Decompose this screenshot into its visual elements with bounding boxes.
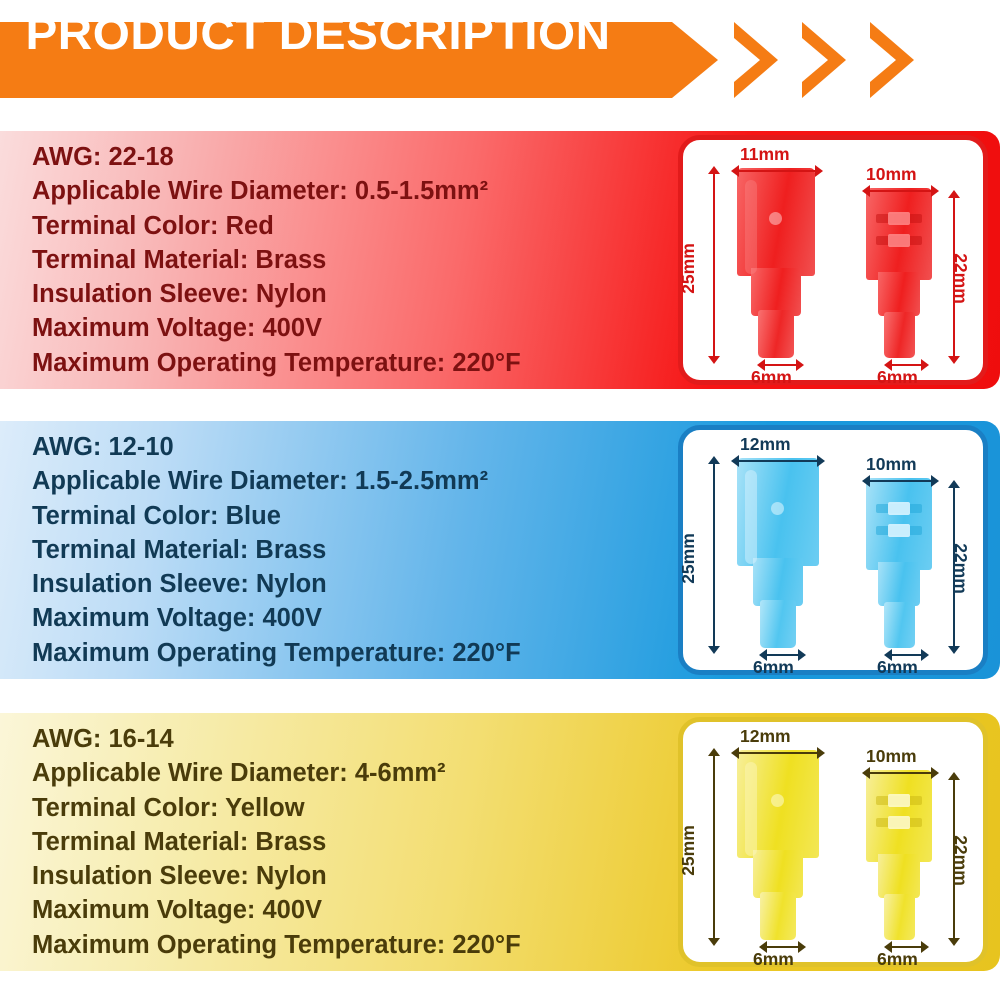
dimension-line [891, 946, 921, 948]
product-image-card-red: 11mm 25mm 6mm 10mm 2 [678, 135, 988, 385]
dimension-line [764, 364, 796, 366]
dimension-label-female-stem: 6mm [877, 949, 918, 970]
product-image-card-blue: 12mm 25mm 6mm 10mm 22mm [678, 425, 988, 675]
dimension-label-female-width: 10mm [866, 164, 917, 185]
dimension-label-male-width: 12mm [740, 434, 791, 455]
spec-panel-yellow: AWG: 16-14 Applicable Wire Diameter: 4-6… [0, 713, 1000, 971]
spec-line: Maximum Operating Temperature: 220°F [32, 346, 521, 380]
dimension-line [891, 654, 921, 656]
spec-line: Applicable Wire Diameter: 1.5-2.5mm² [32, 464, 521, 498]
dimension-line [891, 364, 921, 366]
dimension-line [766, 946, 798, 948]
product-description-infographic: PRODUCT DESCRIPTION AWG: 22-18 Applicabl… [0, 0, 1000, 1000]
spec-line: AWG: 12-10 [32, 430, 521, 464]
dimension-label-female-height: 22mm [950, 253, 971, 304]
spec-panel-red: AWG: 22-18 Applicable Wire Diameter: 0.5… [0, 131, 1000, 389]
spec-line: Terminal Color: Blue [32, 499, 521, 533]
banner-arrow-tip [672, 22, 718, 98]
dimension-label-male-width: 11mm [740, 144, 790, 165]
dimension-line [713, 464, 715, 646]
page-title-text: PRODUCT DESCRIPTION [25, 8, 610, 60]
dimension-line [713, 174, 715, 356]
dimension-line [737, 170, 815, 172]
spec-line: Terminal Material: Brass [32, 825, 521, 859]
page-title: PRODUCT DESCRIPTION [42, 34, 594, 86]
spec-line: Applicable Wire Diameter: 4-6mm² [32, 756, 521, 790]
spec-line: Maximum Voltage: 400V [32, 893, 521, 927]
dimension-line [713, 756, 715, 938]
spec-line: Terminal Material: Brass [32, 243, 521, 277]
dimension-label-female-stem: 6mm [877, 657, 918, 678]
spec-line: Maximum Voltage: 400V [32, 311, 521, 345]
terminal-male-yellow [731, 750, 823, 940]
spec-line: Terminal Color: Yellow [32, 791, 521, 825]
spec-line: Terminal Color: Red [32, 209, 521, 243]
dimension-line [869, 772, 931, 774]
spec-line: AWG: 22-18 [32, 140, 521, 174]
dimension-label-female-height: 22mm [950, 835, 971, 886]
dimension-line [737, 460, 817, 462]
dimension-label-male-height: 25mm [678, 825, 699, 876]
spec-list-yellow: AWG: 16-14 Applicable Wire Diameter: 4-6… [32, 722, 521, 962]
dimension-label-female-width: 10mm [866, 454, 917, 475]
chevron-icon-3 [870, 22, 914, 98]
dimension-label-male-stem: 6mm [753, 949, 794, 970]
spec-line: Insulation Sleeve: Nylon [32, 277, 521, 311]
dimension-label-male-stem: 6mm [751, 367, 792, 388]
dimension-label-male-stem: 6mm [753, 657, 794, 678]
terminal-female-blue [861, 478, 937, 648]
dimension-line [869, 480, 931, 482]
header-banner: PRODUCT DESCRIPTION [0, 22, 1000, 98]
spec-line: Insulation Sleeve: Nylon [32, 567, 521, 601]
spec-panel-blue: AWG: 12-10 Applicable Wire Diameter: 1.5… [0, 421, 1000, 679]
spec-line: AWG: 16-14 [32, 722, 521, 756]
dimension-line [737, 752, 817, 754]
dimension-label-male-width: 12mm [740, 726, 791, 747]
spec-list-red: AWG: 22-18 Applicable Wire Diameter: 0.5… [32, 140, 521, 380]
terminal-male-red [731, 168, 821, 358]
dimension-line [869, 190, 931, 192]
terminal-male-blue [731, 458, 823, 648]
spec-line: Applicable Wire Diameter: 0.5-1.5mm² [32, 174, 521, 208]
spec-list-blue: AWG: 12-10 Applicable Wire Diameter: 1.5… [32, 430, 521, 670]
chevron-icon-1 [734, 22, 778, 98]
dimension-label-male-height: 25mm [678, 243, 699, 294]
terminal-female-yellow [861, 770, 937, 940]
spec-line: Maximum Voltage: 400V [32, 601, 521, 635]
product-image-card-yellow: 12mm 25mm 6mm 10mm 22mm [678, 717, 988, 967]
spec-line: Maximum Operating Temperature: 220°F [32, 636, 521, 670]
spec-line: Terminal Material: Brass [32, 533, 521, 567]
dimension-label-male-height: 25mm [678, 533, 699, 584]
dimension-label-female-height: 22mm [950, 543, 971, 594]
terminal-female-red [861, 188, 937, 358]
chevron-icon-2 [802, 22, 846, 98]
spec-line: Insulation Sleeve: Nylon [32, 859, 521, 893]
dimension-label-female-width: 10mm [866, 746, 917, 767]
dimension-label-female-stem: 6mm [877, 367, 918, 388]
dimension-line [766, 654, 798, 656]
spec-line: Maximum Operating Temperature: 220°F [32, 928, 521, 962]
